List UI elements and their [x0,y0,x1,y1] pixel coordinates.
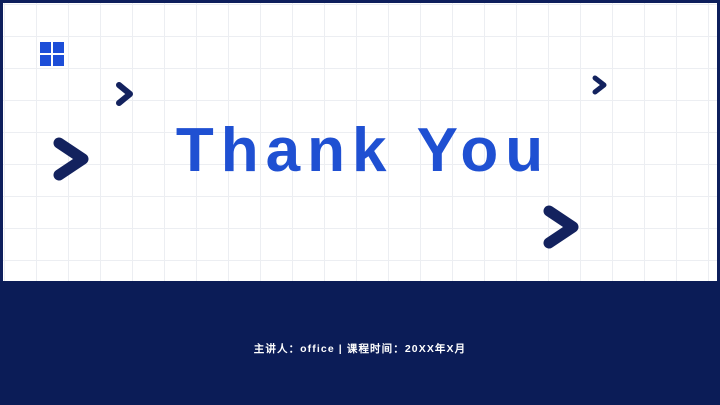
chevron-small-upper-right-icon [591,73,611,97]
logo-tile-bottom-right [53,55,64,66]
slide-canvas: Thank You 主讲人：office | 课程时间：20XX年X月 [0,0,720,405]
chevron-small-upper-left-icon [115,81,137,107]
slide-stage: Thank You [0,0,720,284]
logo-tile-bottom-left [40,55,51,66]
logo-tile-top-right [53,42,64,53]
chevron-large-lower-right-icon [541,203,585,251]
four-square-logo [40,42,64,66]
logo-tile-top-left [40,42,51,53]
footer-credits: 主讲人：office | 课程时间：20XX年X月 [0,341,720,356]
page-title: Thank You [3,116,720,186]
